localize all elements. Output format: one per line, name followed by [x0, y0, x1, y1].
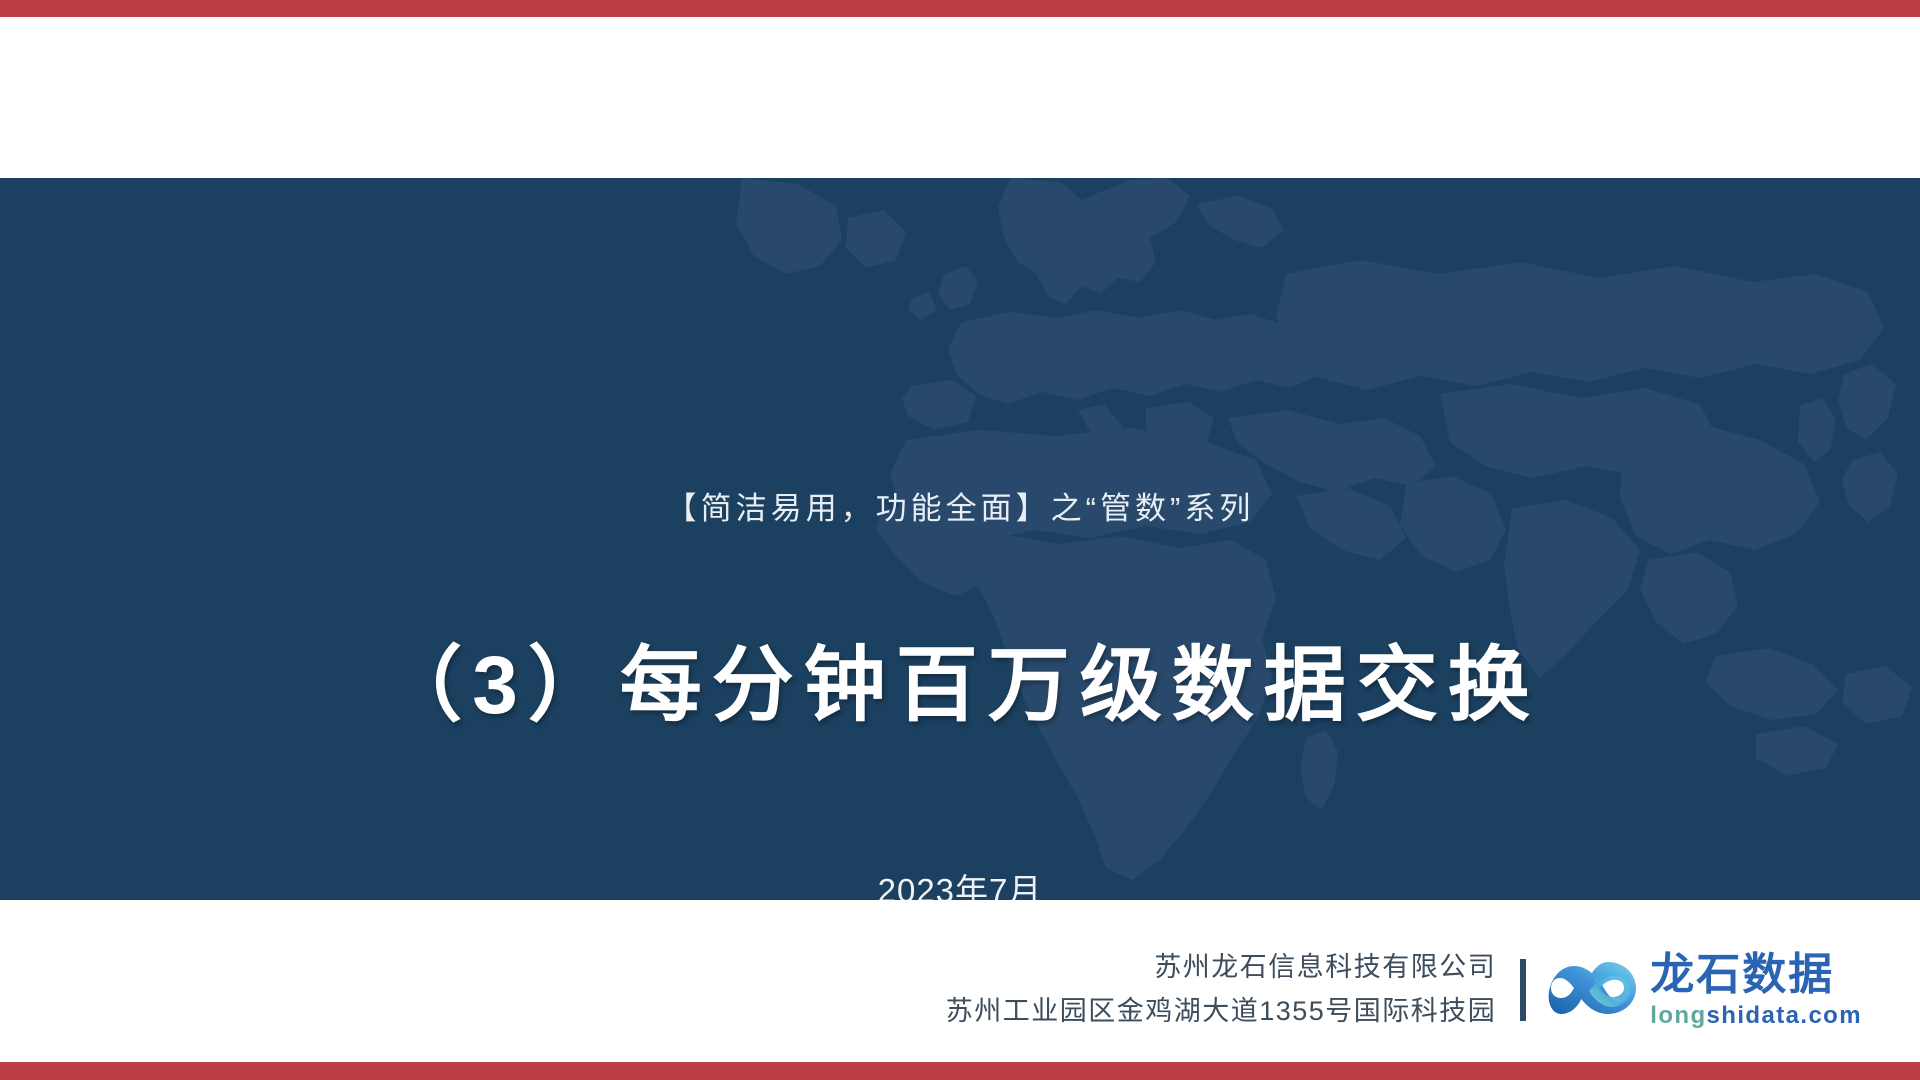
- brand-wordmark: 龙石数据 longshidata.com: [1650, 953, 1862, 1028]
- bottom-accent-rule: [0, 1062, 1920, 1080]
- footer-company-address: 苏州工业园区金鸡湖大道1355号国际科技园: [946, 990, 1497, 1034]
- slide-footer: 苏州龙石信息科技有限公司 苏州工业园区金鸡湖大道1355号国际科技园: [0, 930, 1920, 1050]
- brand-name-cn: 龙石数据: [1650, 953, 1862, 997]
- footer-company-info: 苏州龙石信息科技有限公司 苏州工业园区金鸡湖大道1355号国际科技园: [946, 946, 1497, 1033]
- slide-date: 2023年7月: [0, 871, 1920, 900]
- brand-url: longshidata.com: [1650, 1004, 1862, 1028]
- brand-url-suffix: shidata.com: [1707, 1002, 1862, 1029]
- presentation-slide: 【简洁易用，功能全面】之“管数”系列 （3）每分钟百万级数据交换 2023年7月…: [0, 0, 1920, 1080]
- hero-text-block: 【简洁易用，功能全面】之“管数”系列 （3）每分钟百万级数据交换 2023年7月: [0, 178, 1920, 900]
- infinity-loop-icon: [1548, 952, 1640, 1028]
- hero-band: 【简洁易用，功能全面】之“管数”系列 （3）每分钟百万级数据交换 2023年7月: [0, 178, 1920, 900]
- brand-logo: 龙石数据 longshidata.com: [1548, 952, 1862, 1028]
- slide-subtitle: 【简洁易用，功能全面】之“管数”系列: [0, 490, 1920, 527]
- slide-title: （3）每分钟百万级数据交换: [0, 639, 1920, 733]
- footer-divider: [1520, 959, 1526, 1021]
- brand-url-prefix: long: [1650, 1002, 1706, 1029]
- footer-company-name: 苏州龙石信息科技有限公司: [946, 946, 1497, 990]
- top-accent-rule: [0, 0, 1920, 17]
